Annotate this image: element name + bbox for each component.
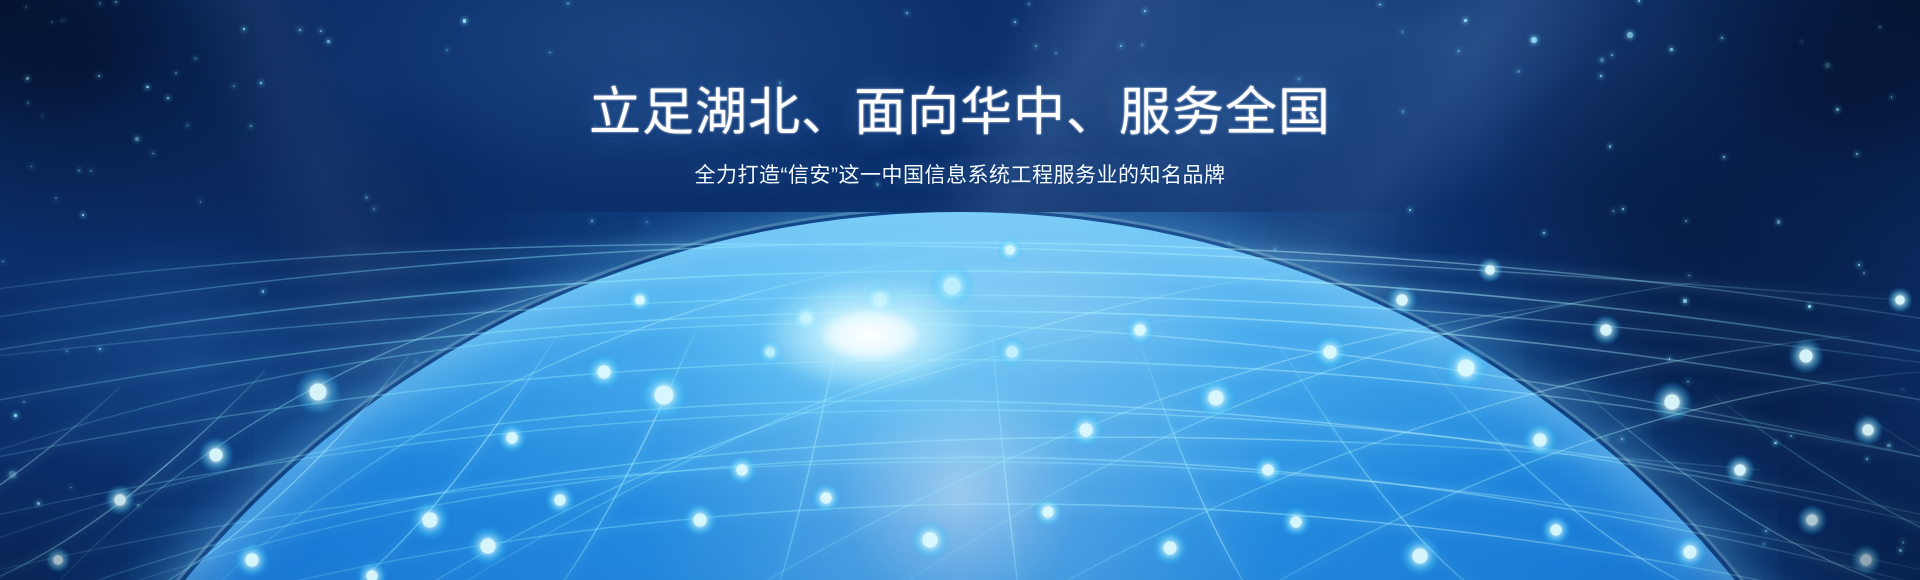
hero-banner: 立足湖北、面向华中、服务全国 全力打造“信安”这一中国信息系统工程服务业的知名品… <box>0 0 1920 580</box>
banner-headline: 立足湖北、面向华中、服务全国 <box>0 86 1920 141</box>
banner-subheadline: 全力打造“信安”这一中国信息系统工程服务业的知名品牌 <box>0 163 1920 188</box>
banner-copy: 立足湖北、面向华中、服务全国 全力打造“信安”这一中国信息系统工程服务业的知名品… <box>0 86 1920 188</box>
